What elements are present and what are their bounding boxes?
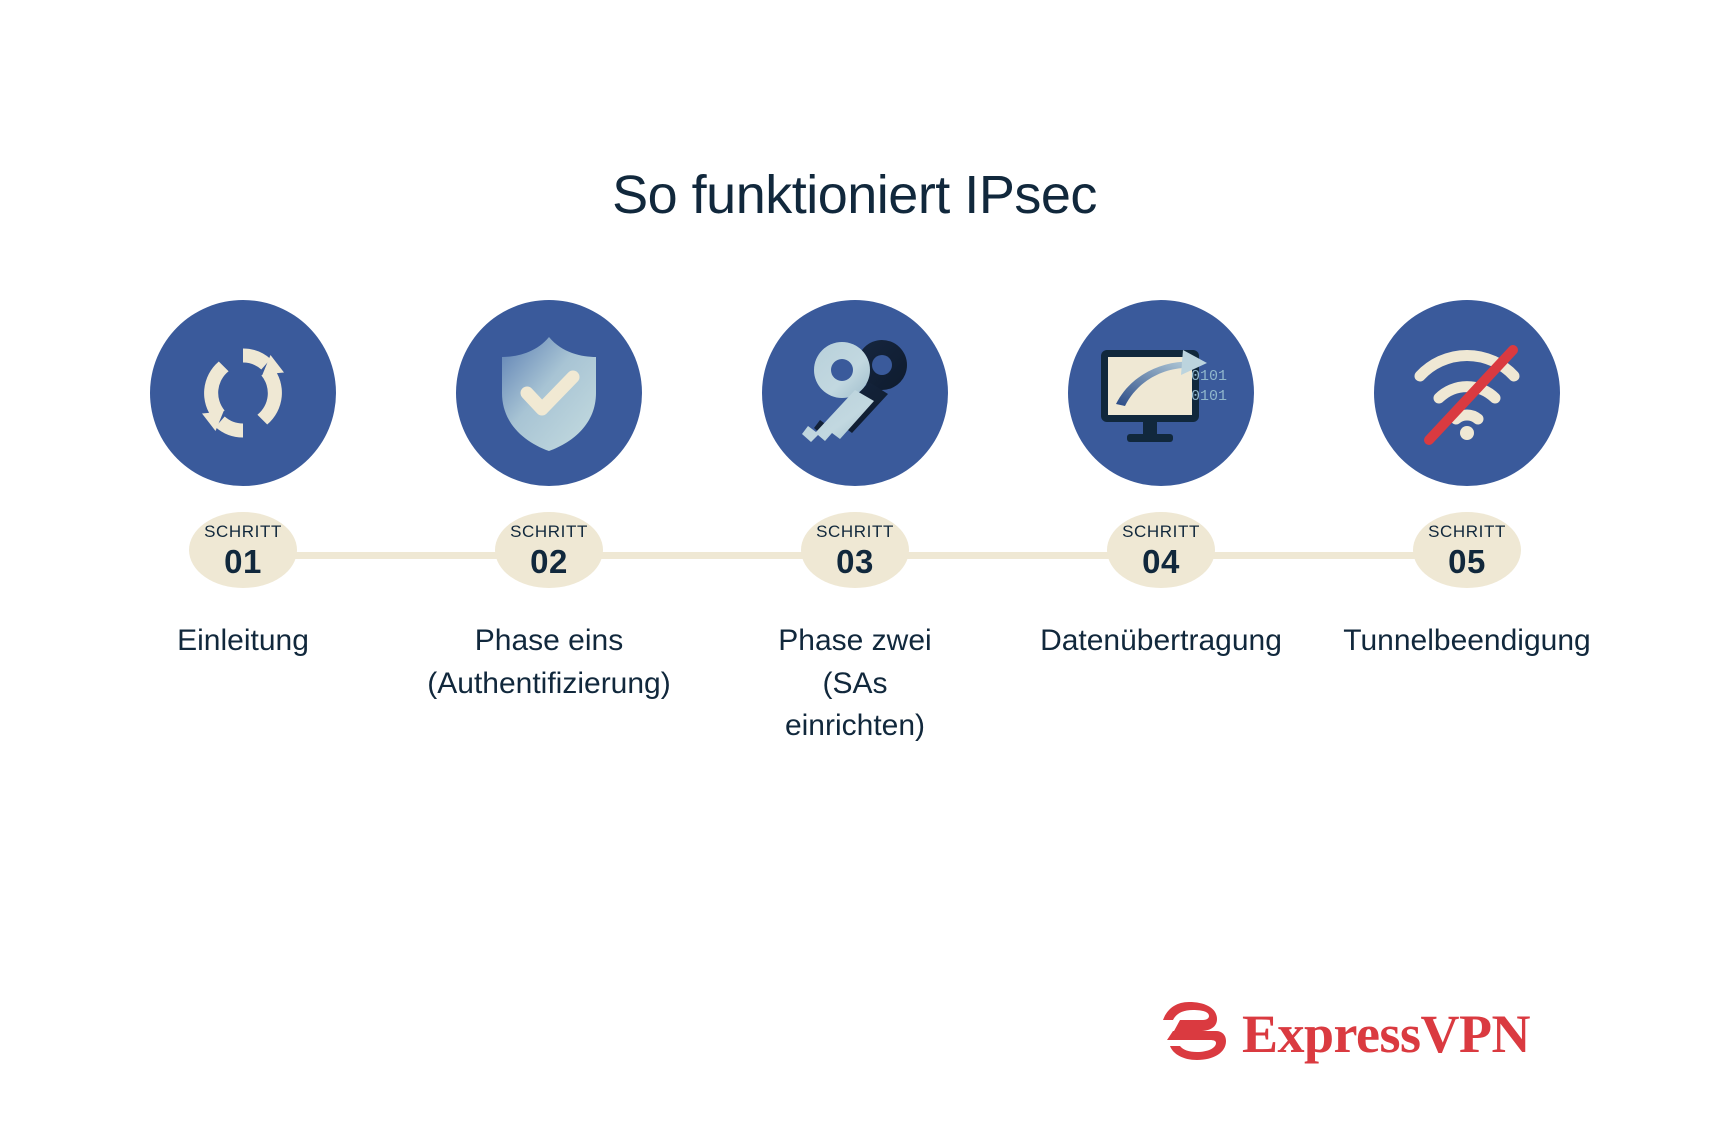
step-03: SCHRITT 03 Phase zwei (SAs einrichten) <box>702 300 1008 748</box>
step-05: SCHRITT 05 Tunnelbeendigung <box>1314 300 1620 663</box>
wifi-disabled-icon <box>1406 338 1528 448</box>
step-05-badge-number: 05 <box>1448 545 1486 578</box>
step-05-badge-word: SCHRITT <box>1428 523 1506 540</box>
step-04-icon-circle: 01010101 01010101 <box>1068 300 1254 486</box>
step-03-badge: SCHRITT 03 <box>801 512 909 588</box>
step-01-caption: Einleitung <box>177 620 309 663</box>
infographic-page: So funktioniert IPsec <box>0 0 1709 1121</box>
two-keys-icon <box>792 334 918 452</box>
step-03-caption: Phase zwei (SAs einrichten) <box>778 620 931 748</box>
sync-arrows-icon <box>184 334 302 452</box>
expressvpn-logo: ExpressVPN <box>1162 1002 1530 1065</box>
step-04-caption: Datenübertragung <box>1040 620 1282 663</box>
step-05-badge-wrap: SCHRITT 05 <box>1314 512 1620 588</box>
step-02-badge-wrap: SCHRITT 02 <box>396 512 702 588</box>
steps-row: SCHRITT 01 Einleitung <box>90 300 1620 748</box>
page-title: So funktioniert IPsec <box>0 164 1709 226</box>
step-03-icon-circle <box>762 300 948 486</box>
expressvpn-e-mark-icon <box>1162 1002 1228 1065</box>
step-03-badge-number: 03 <box>836 545 874 578</box>
step-03-badge-word: SCHRITT <box>816 523 894 540</box>
step-01-icon-circle <box>150 300 336 486</box>
step-04-badge: SCHRITT 04 <box>1107 512 1215 588</box>
step-05-badge: SCHRITT 05 <box>1413 512 1521 588</box>
step-02: SCHRITT 02 Phase eins (Authentifizierung… <box>396 300 702 705</box>
step-04: 01010101 01010101 SCHRITT 04 Datenüb <box>1008 300 1314 663</box>
step-04-badge-word: SCHRITT <box>1122 523 1200 540</box>
step-01-badge: SCHRITT 01 <box>189 512 297 588</box>
step-02-badge: SCHRITT 02 <box>495 512 603 588</box>
step-03-badge-wrap: SCHRITT 03 <box>702 512 1008 588</box>
step-02-badge-word: SCHRITT <box>510 523 588 540</box>
step-01-badge-word: SCHRITT <box>204 523 282 540</box>
step-02-badge-number: 02 <box>530 545 568 578</box>
step-02-caption: Phase eins (Authentifizierung) <box>427 620 670 705</box>
svg-text:01010101: 01010101 <box>1191 388 1227 405</box>
step-04-badge-number: 04 <box>1142 545 1180 578</box>
step-01: SCHRITT 01 Einleitung <box>90 300 396 663</box>
steps-timeline: SCHRITT 01 Einleitung <box>90 300 1620 800</box>
step-05-caption: Tunnelbeendigung <box>1343 620 1590 663</box>
expressvpn-wordmark: ExpressVPN <box>1242 1007 1530 1061</box>
step-05-icon-circle <box>1374 300 1560 486</box>
svg-text:01010101: 01010101 <box>1191 368 1227 385</box>
step-02-icon-circle <box>456 300 642 486</box>
shield-check-icon <box>490 331 608 455</box>
step-01-badge-number: 01 <box>224 545 262 578</box>
step-01-badge-wrap: SCHRITT 01 <box>90 512 396 588</box>
step-04-badge-wrap: SCHRITT 04 <box>1008 512 1314 588</box>
monitor-data-transfer-icon: 01010101 01010101 <box>1095 334 1227 452</box>
